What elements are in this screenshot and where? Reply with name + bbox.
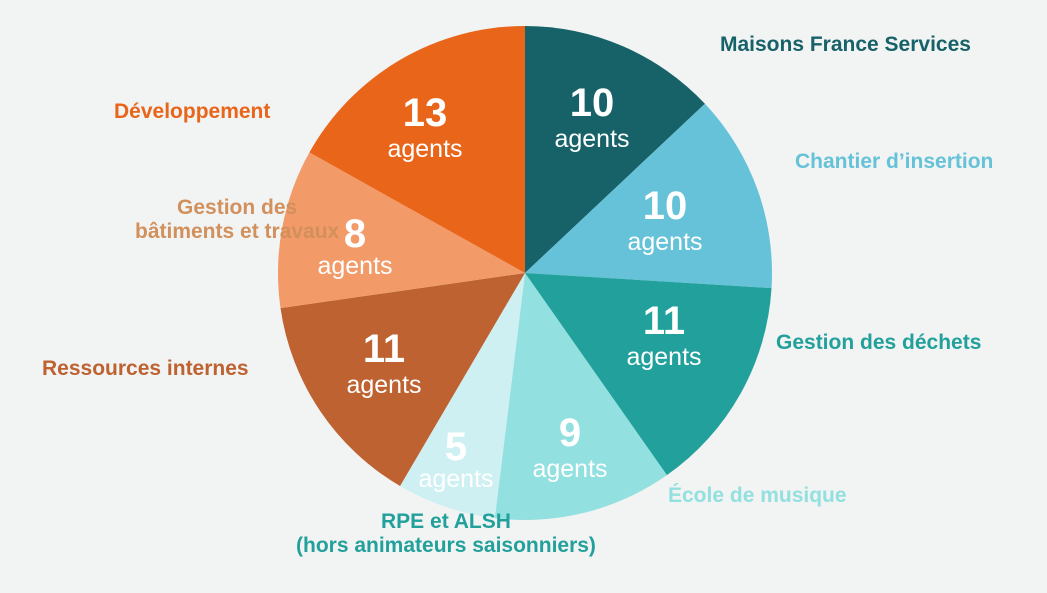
slice-value-chantier-d-insertion: 10	[643, 184, 688, 228]
category-label-ressources-internes: Ressources internes	[42, 357, 249, 381]
category-label-maisons-france-services: Maisons France Services	[720, 33, 971, 57]
slice-value-ressources-internes: 11	[363, 327, 405, 371]
slice-unit-developpement: agents	[387, 135, 462, 163]
category-label-gestion-des-batiments-et-travaux: Gestion des bâtiments et travaux	[135, 196, 339, 243]
slice-value-gestion-des-dechets: 11	[643, 299, 685, 343]
slice-value-maisons-france-services: 10	[570, 81, 615, 125]
slice-value-developpement: 13	[403, 91, 448, 135]
slice-value-ecole-de-musique: 9	[559, 411, 581, 455]
slice-unit-ecole-de-musique: agents	[532, 455, 607, 483]
slice-unit-rpe-et-alsh: agents	[418, 465, 493, 493]
pie-chart-svg: 10agents10agents11agents9agents5agents11…	[0, 0, 1047, 593]
slice-unit-maisons-france-services: agents	[554, 125, 629, 153]
slice-unit-gestion-des-batiments-et-travaux: agents	[317, 252, 392, 280]
category-label-chantier-d-insertion: Chantier d’insertion	[795, 150, 993, 174]
category-label-rpe-et-alsh: RPE et ALSH (hors animateurs saisonniers…	[296, 510, 596, 557]
pie-chart: 10agents10agents11agents9agents5agents11…	[0, 0, 1047, 593]
slice-unit-ressources-internes: agents	[346, 371, 421, 399]
category-label-ecole-de-musique: École de musique	[668, 484, 847, 508]
slice-unit-gestion-des-dechets: agents	[626, 343, 701, 371]
slice-value-rpe-et-alsh: 5	[445, 425, 467, 469]
slice-unit-chantier-d-insertion: agents	[627, 228, 702, 256]
category-label-gestion-des-dechets: Gestion des déchets	[776, 331, 981, 355]
category-label-developpement: Développement	[114, 100, 270, 124]
slice-value-gestion-des-batiments-et-travaux: 8	[344, 212, 366, 256]
